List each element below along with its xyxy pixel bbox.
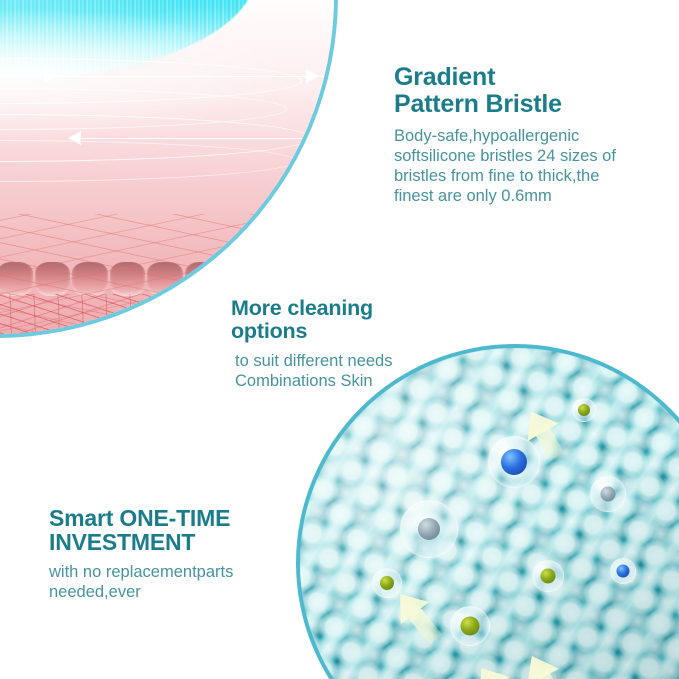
bristle-pad-closeup xyxy=(300,348,679,679)
germ-bubble xyxy=(450,606,490,646)
product-feature-collage: Gradient Pattern Bristle Body-safe,hypoa… xyxy=(0,0,679,679)
arrow-head-left-icon xyxy=(44,69,57,83)
skin-cross-section-illustration xyxy=(0,0,334,334)
germ-bubble xyxy=(488,436,540,488)
germ-bubble xyxy=(610,558,636,584)
vibration-arrow-line xyxy=(78,138,334,139)
germ-bubble xyxy=(572,398,596,422)
vibration-arrow-line xyxy=(44,76,334,77)
bottom-right-circle-frame xyxy=(300,348,679,679)
feature-heading: More cleaning options xyxy=(231,297,467,343)
germ-bubble xyxy=(590,476,626,512)
germ-bubble xyxy=(372,568,402,598)
feature-heading: Smart ONE-TIME INVESTMENT xyxy=(49,506,295,555)
arrow-head-reverse-icon xyxy=(68,131,81,145)
feature-body: with no replacementparts needed,ever xyxy=(49,562,295,602)
feature-heading: Gradient Pattern Bristle xyxy=(394,64,672,117)
feature-body: to suit different needs Combinations Ski… xyxy=(235,351,467,391)
feature-body: Body-safe,hypoallergenic softsilicone br… xyxy=(394,126,672,207)
germ-bubble xyxy=(532,560,564,592)
feature-block-gradient-pattern-bristle: Gradient Pattern Bristle Body-safe,hypoa… xyxy=(394,64,672,207)
top-left-circle-frame xyxy=(0,0,334,334)
feature-block-more-cleaning-options: More cleaning options to suit different … xyxy=(231,297,467,391)
arrow-head-mid-icon xyxy=(306,69,319,83)
feature-block-smart-one-time-investment: Smart ONE-TIME INVESTMENT with no replac… xyxy=(49,506,295,602)
germ-bubble xyxy=(400,500,458,558)
